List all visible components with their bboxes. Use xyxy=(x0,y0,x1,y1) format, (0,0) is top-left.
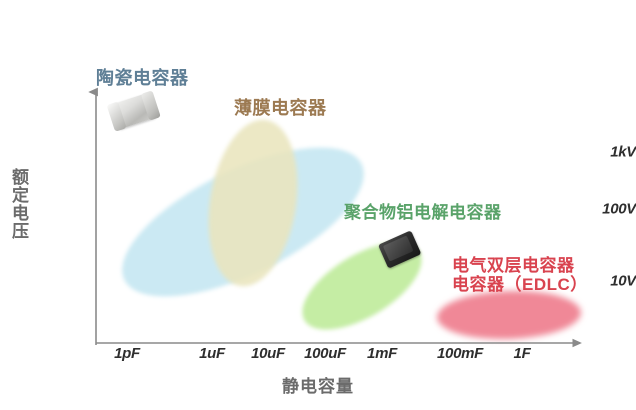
y-axis-title: 额定电压 xyxy=(6,168,31,240)
x-tick-label-100mf: 100mF xyxy=(437,345,483,362)
x-tick-label-1uf: 1uF xyxy=(199,345,225,362)
x-tick-label-100uf: 100uF xyxy=(304,345,346,362)
series-label-edlc-line1: 电气双层电容器 xyxy=(452,256,588,275)
series-blob-edlc xyxy=(436,289,582,342)
y-tick-label-100v: 100V xyxy=(548,201,636,218)
x-tick-label-1mf: 1mF xyxy=(367,345,397,362)
capacitor-comparison-chart: 1kV 100V 10V 1pF 1uF 10uF 100uF 1mF 100m… xyxy=(0,0,636,410)
series-blob-group xyxy=(102,113,582,347)
series-label-ceramic: 陶瓷电容器 xyxy=(96,68,189,88)
x-tick-label-1pf: 1pF xyxy=(114,345,140,362)
x-axis-title: 静电容量 xyxy=(0,372,636,397)
x-tick-label-10uf: 10uF xyxy=(251,345,285,362)
series-label-film: 薄膜电容器 xyxy=(234,98,327,118)
x-tick-label-1f: 1F xyxy=(514,345,531,362)
series-label-polymer: 聚合物铝电解电容器 xyxy=(344,203,502,222)
series-label-edlc: 电气双层电容器 电容器（EDLC） xyxy=(452,256,588,294)
y-tick-label-1kv: 1kV xyxy=(548,144,636,161)
series-label-edlc-line2: 电容器（EDLC） xyxy=(452,275,588,294)
